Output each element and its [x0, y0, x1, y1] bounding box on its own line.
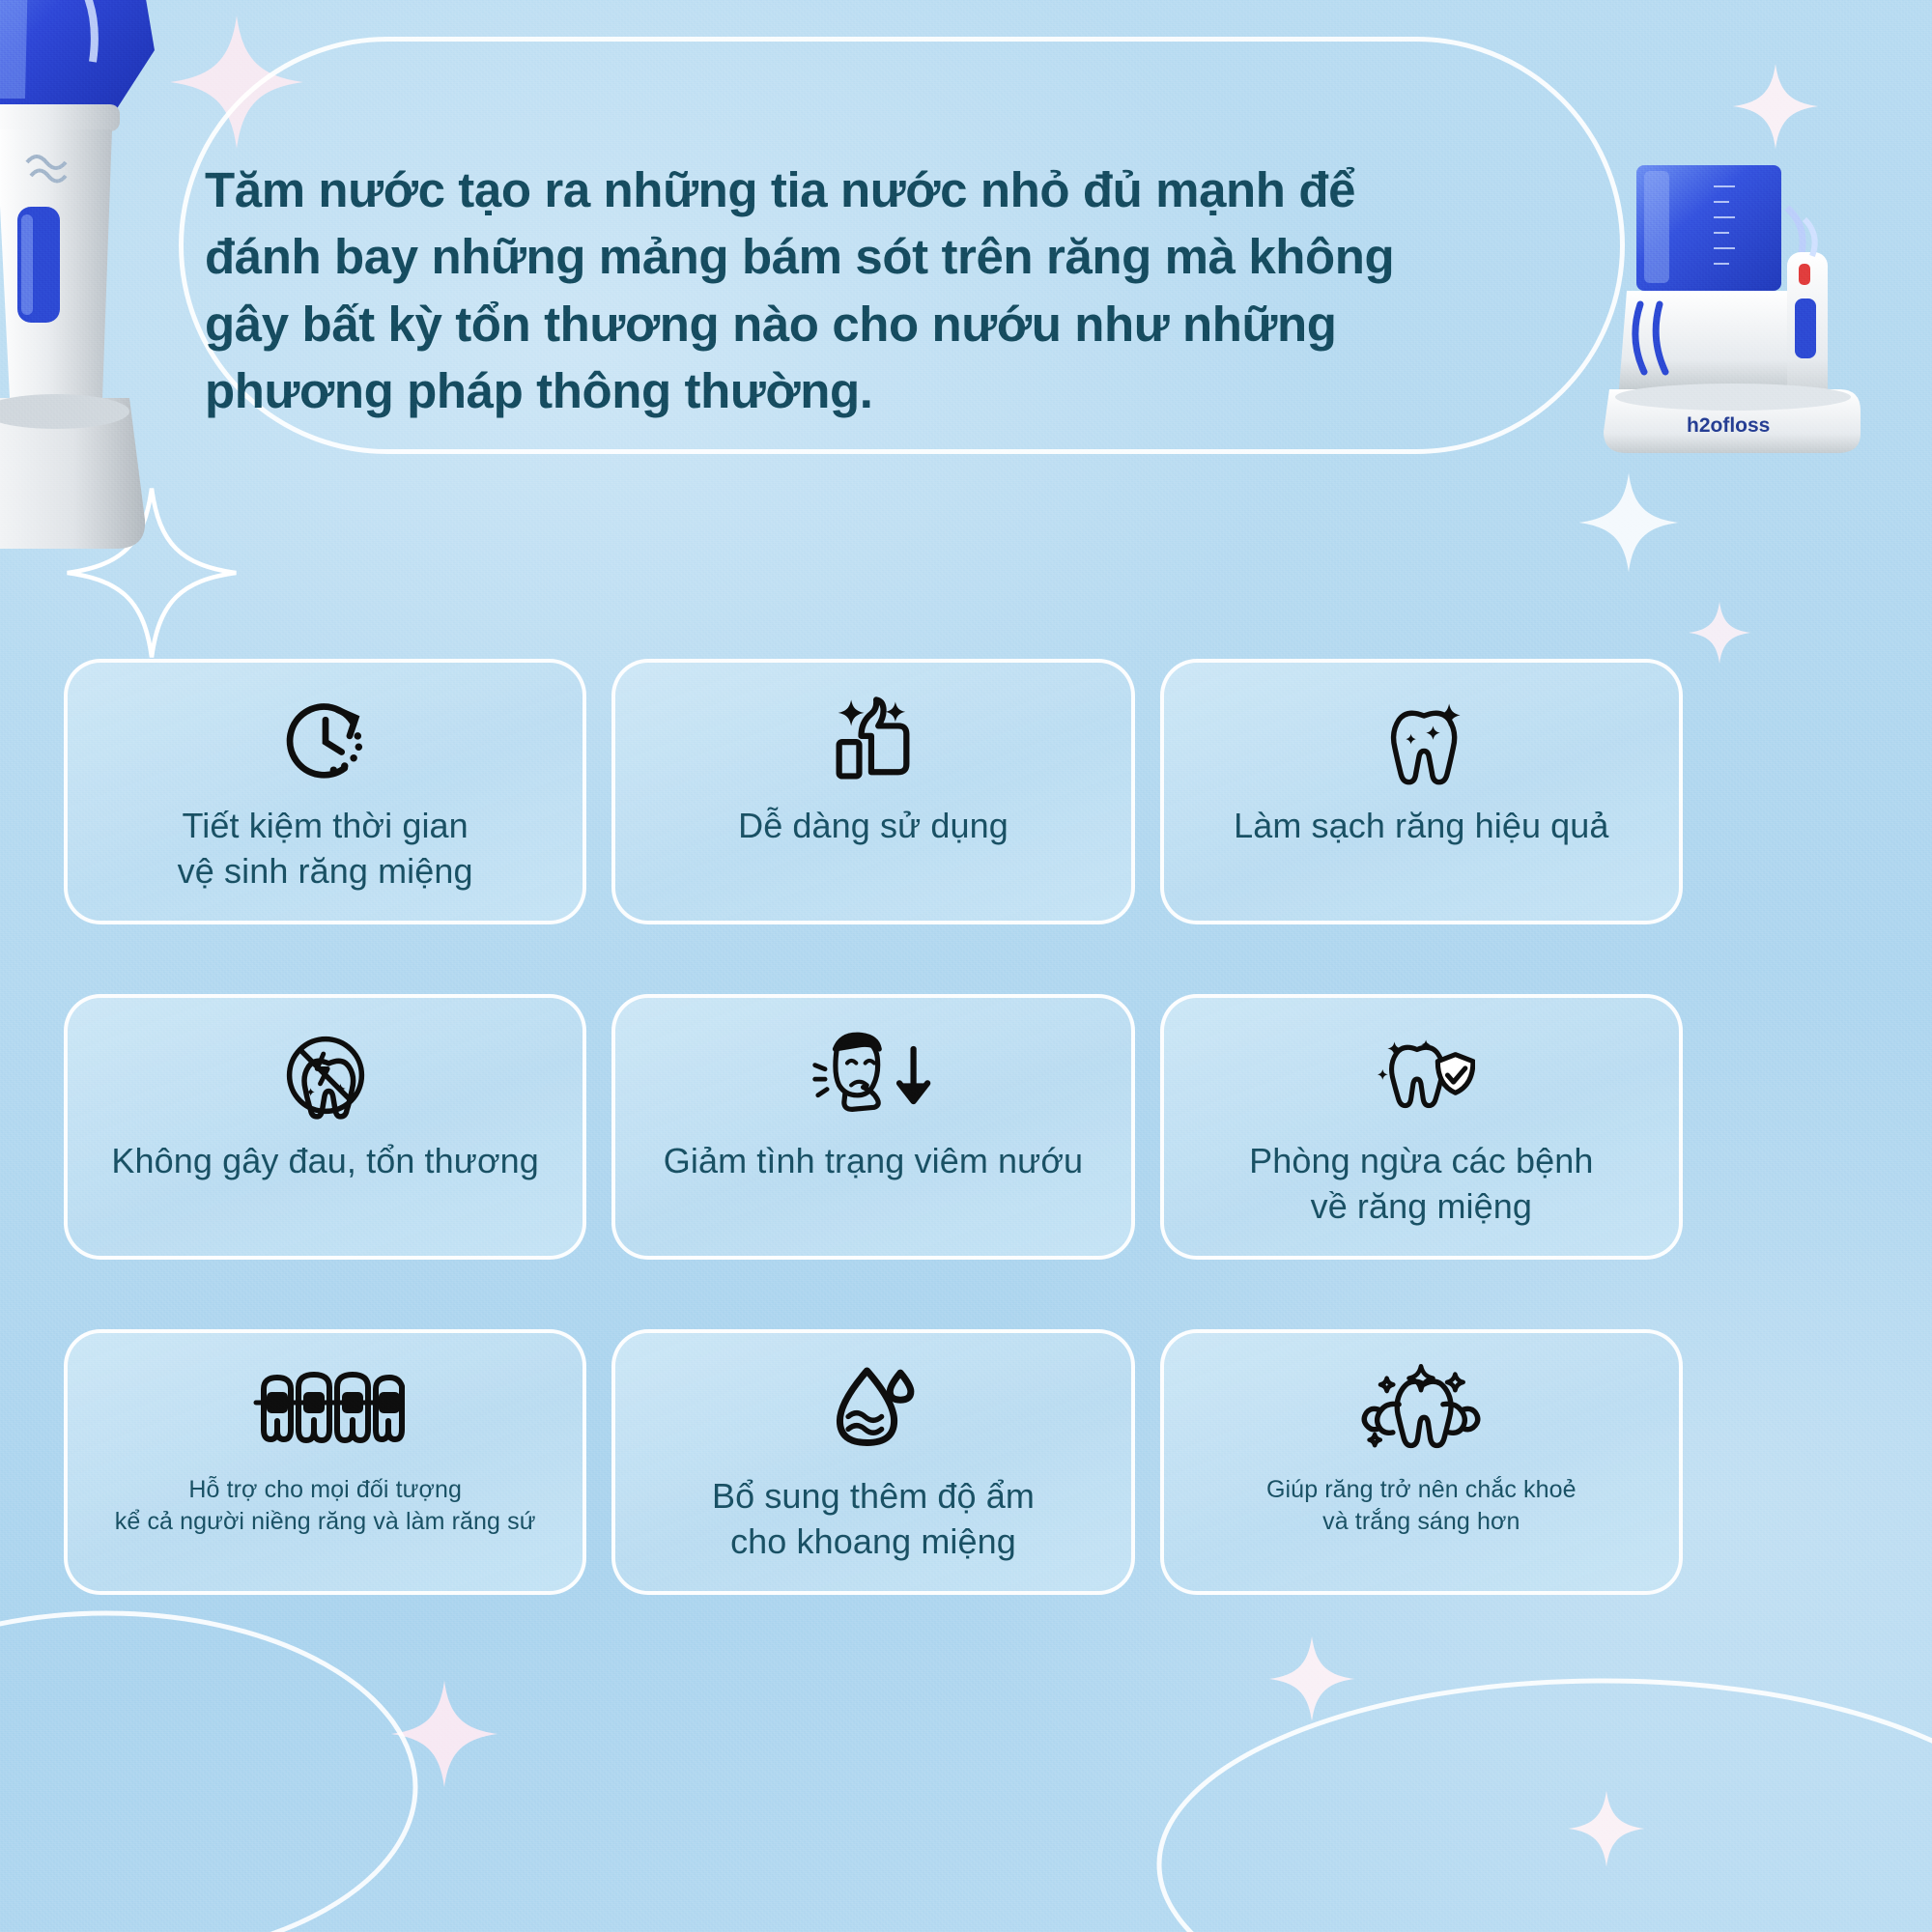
hero-line-3: gây bất kỳ tổn thương nào cho nướu như n…	[205, 291, 1557, 357]
benefit-card-label: Bổ sung thêm độ ẩm cho khoang miệng	[696, 1474, 1050, 1565]
benefit-card-save-time[interactable]: Tiết kiệm thời gian vệ sinh răng miệng	[64, 659, 586, 924]
sparkle-decoration-top-right	[1729, 60, 1822, 153]
benefits-grid: Tiết kiệm thời gian vệ sinh răng miệng	[64, 659, 1683, 1595]
benefit-card-easy-to-use[interactable]: Dễ dàng sử dụng	[611, 659, 1134, 924]
label-line: cho khoang miệng	[712, 1520, 1035, 1565]
sparkle-decoration-product-right	[1575, 469, 1683, 577]
arc-decoration-bottom-right	[1101, 1642, 1932, 1932]
braces-icon	[246, 1356, 405, 1464]
sparkle-decoration-bottom-mid	[1265, 1633, 1358, 1725]
benefit-card-label: Không gây đau, tổn thương	[96, 1139, 554, 1184]
benefits-row-3: Hỗ trợ cho mọi đối tượng kể cả người niề…	[64, 1329, 1683, 1595]
benefit-card-label: Tiết kiệm thời gian vệ sinh răng miệng	[162, 804, 489, 895]
brand-logo-text: h2ofloss	[1687, 414, 1770, 437]
benefits-row-2: Không gây đau, tổn thương	[64, 994, 1683, 1260]
label-line: Hỗ trợ cho mọi đối tượng	[115, 1474, 536, 1506]
benefit-card-label: Làm sạch răng hiệu quả	[1218, 804, 1624, 849]
benefit-card-label: Phòng ngừa các bệnh về răng miệng	[1234, 1139, 1608, 1230]
benefit-card-stronger-teeth[interactable]: Giúp răng trở nên chắc khoẻ và trắng sán…	[1160, 1329, 1683, 1595]
benefit-card-label: Giảm tình trạng viêm nướu	[648, 1139, 1098, 1184]
benefit-card-prevent-diseases[interactable]: Phòng ngừa các bệnh về răng miệng	[1160, 994, 1683, 1260]
strong-tooth-icon	[1349, 1356, 1493, 1464]
benefit-card-braces-support[interactable]: Hỗ trợ cho mọi đối tượng kể cả người niề…	[64, 1329, 586, 1595]
arc-decoration-bottom-left	[0, 1584, 522, 1932]
label-line: Giúp răng trở nên chắc khoẻ	[1266, 1474, 1577, 1506]
thumbs-up-sparkle-icon	[823, 686, 923, 794]
sparkling-tooth-icon	[1371, 686, 1471, 794]
hero-headline: Tăm nước tạo ra những tia nước nhỏ đủ mạ…	[205, 156, 1557, 424]
hero-line-4: phương pháp thông thường.	[205, 357, 1557, 424]
label-line: Phòng ngừa các bệnh	[1249, 1139, 1593, 1184]
label-line: Giảm tình trạng viêm nướu	[664, 1139, 1083, 1184]
no-pain-tooth-icon	[272, 1021, 379, 1129]
label-line: Bổ sung thêm độ ẩm	[712, 1474, 1035, 1520]
benefit-card-label: Giúp răng trở nên chắc khoẻ và trắng sán…	[1251, 1474, 1592, 1538]
benefit-card-no-pain[interactable]: Không gây đau, tổn thương	[64, 994, 586, 1260]
clock-arrow-icon	[275, 686, 376, 794]
reduce-gum-inflammation-icon	[801, 1021, 946, 1129]
poster-canvas: h2ofloss Tăm nước tạo ra những tia nước …	[0, 0, 1932, 1932]
benefit-card-label: Hỗ trợ cho mọi đối tượng kể cả người niề…	[99, 1474, 552, 1538]
label-line: Làm sạch răng hiệu quả	[1234, 804, 1608, 849]
sparkle-decoration-bottom-left	[386, 1676, 502, 1792]
benefit-card-effective-cleaning[interactable]: Làm sạch răng hiệu quả	[1160, 659, 1683, 924]
sparkle-decoration-right-mid	[1686, 599, 1753, 667]
benefit-card-label: Dễ dàng sử dụng	[723, 804, 1024, 849]
benefits-row-1: Tiết kiệm thời gian vệ sinh răng miệng	[64, 659, 1683, 924]
label-line: Tiết kiệm thời gian	[178, 804, 473, 849]
label-line: và trắng sáng hơn	[1266, 1506, 1577, 1538]
label-line: kể cả người niềng răng và làm răng sứ	[115, 1506, 536, 1538]
water-drop-icon	[821, 1356, 925, 1464]
hero-line-2: đánh bay những mảng bám sót trên răng mà…	[205, 223, 1557, 290]
sparkle-decoration-bottom-right	[1565, 1787, 1648, 1870]
label-line: Không gây đau, tổn thương	[111, 1139, 539, 1184]
benefit-card-moisture[interactable]: Bổ sung thêm độ ẩm cho khoang miệng	[611, 1329, 1134, 1595]
label-line: vệ sinh răng miệng	[178, 849, 473, 895]
tooth-shield-icon	[1367, 1021, 1475, 1129]
product-image-handle	[0, 0, 179, 611]
benefit-card-reduce-inflammation[interactable]: Giảm tình trạng viêm nướu	[611, 994, 1134, 1260]
product-image-full-unit: h2ofloss	[1598, 159, 1888, 478]
label-line: Dễ dàng sử dụng	[738, 804, 1009, 849]
label-line: về răng miệng	[1249, 1184, 1593, 1230]
hero-line-1: Tăm nước tạo ra những tia nước nhỏ đủ mạ…	[205, 156, 1557, 223]
